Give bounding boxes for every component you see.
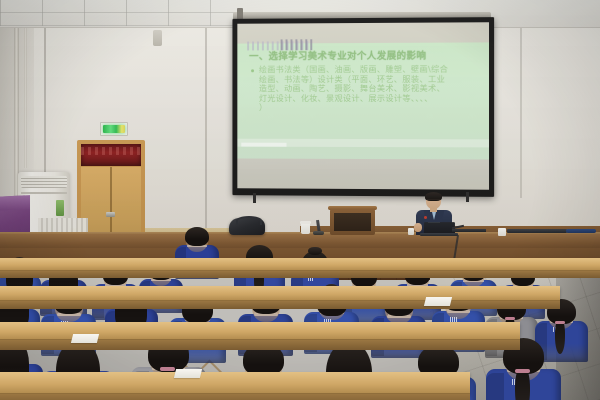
projection-screen: 一、选择学习美术专业对个人发展的影响 绘画书法类（国画、油画、版画、雕塑、壁画\… [237,22,489,190]
slide-title: 一、选择学习美术专业对个人发展的影响 [249,51,477,63]
uniform-logo [450,317,457,321]
presenter-lapel-pin [424,216,427,219]
desk-dark-device [452,229,486,232]
hair-tie [505,317,516,320]
screen-glare-highlight [241,143,286,147]
desk-tier-front [0,301,560,309]
desk-tier-front [0,394,470,400]
desk-tier-seam [0,270,600,271]
presenter-cup [408,228,414,235]
audience-member-hair [185,227,209,246]
paper-cup-right [498,228,506,236]
ac-display-panel [56,200,64,216]
exit-sign-icon [100,122,128,136]
slide-bullet-marker [251,69,254,72]
screen-bottom-mount-left [253,193,256,203]
slide-decoration-bar-2 [281,39,315,50]
desk-blue-device [566,229,596,233]
slide-content: 一、选择学习美术专业对个人发展的影响 绘画书法类（国画、油画、版画、雕塑、壁画\… [237,22,489,190]
wall-seam [520,28,522,198]
uniform-sleeve [486,373,504,400]
desk-tier-seam [0,300,560,301]
lecture-hall-photo: 一、选择学习美术专业对个人发展的影响 绘画书法类（国画、油画、版画、雕塑、壁画\… [0,0,600,400]
hair-tie [555,321,566,324]
screen-bottom-mount-right [466,192,469,202]
ac-vent-grille [21,176,67,188]
ac-seam [21,192,67,194]
ceiling-tile-grid [0,0,250,26]
hair-tie [515,369,530,373]
transom-reflection [81,147,141,155]
microphone-base [313,231,324,235]
exit-sign-glow [103,125,125,133]
paper-sheet [71,334,99,343]
paper-cup-lid [300,221,311,224]
lectern-inner-panel [334,213,371,231]
backpack-strap [236,216,262,225]
slide-body-text: 绘画书法类（国画、油画、版画、雕塑、壁画\综合绘画、书法等）设计类（平面、环艺、… [259,65,481,113]
wall-fixture [153,30,162,46]
desk-tier-seam [0,393,470,394]
desk-equipment-bar [507,229,567,233]
wall-seam [205,28,207,228]
slide-body-line: 灯光设计、化妆、景观设计、展示设计等、、、、 [259,94,481,104]
desk-tier [0,286,560,301]
door-handle[interactable] [106,212,115,217]
slide-body-line: ） [259,103,481,113]
presenter-glasses [427,199,440,203]
desk-tier-front [0,271,600,278]
desk-tier [0,372,470,394]
paper-sheet [424,297,452,306]
draped-chair-top [0,195,30,211]
laptop-base[interactable] [420,233,458,236]
paper-sheet [174,369,202,378]
wall-pipe-secondary [24,28,27,168]
presenter-hand [414,223,422,232]
hair-tie [160,367,175,371]
